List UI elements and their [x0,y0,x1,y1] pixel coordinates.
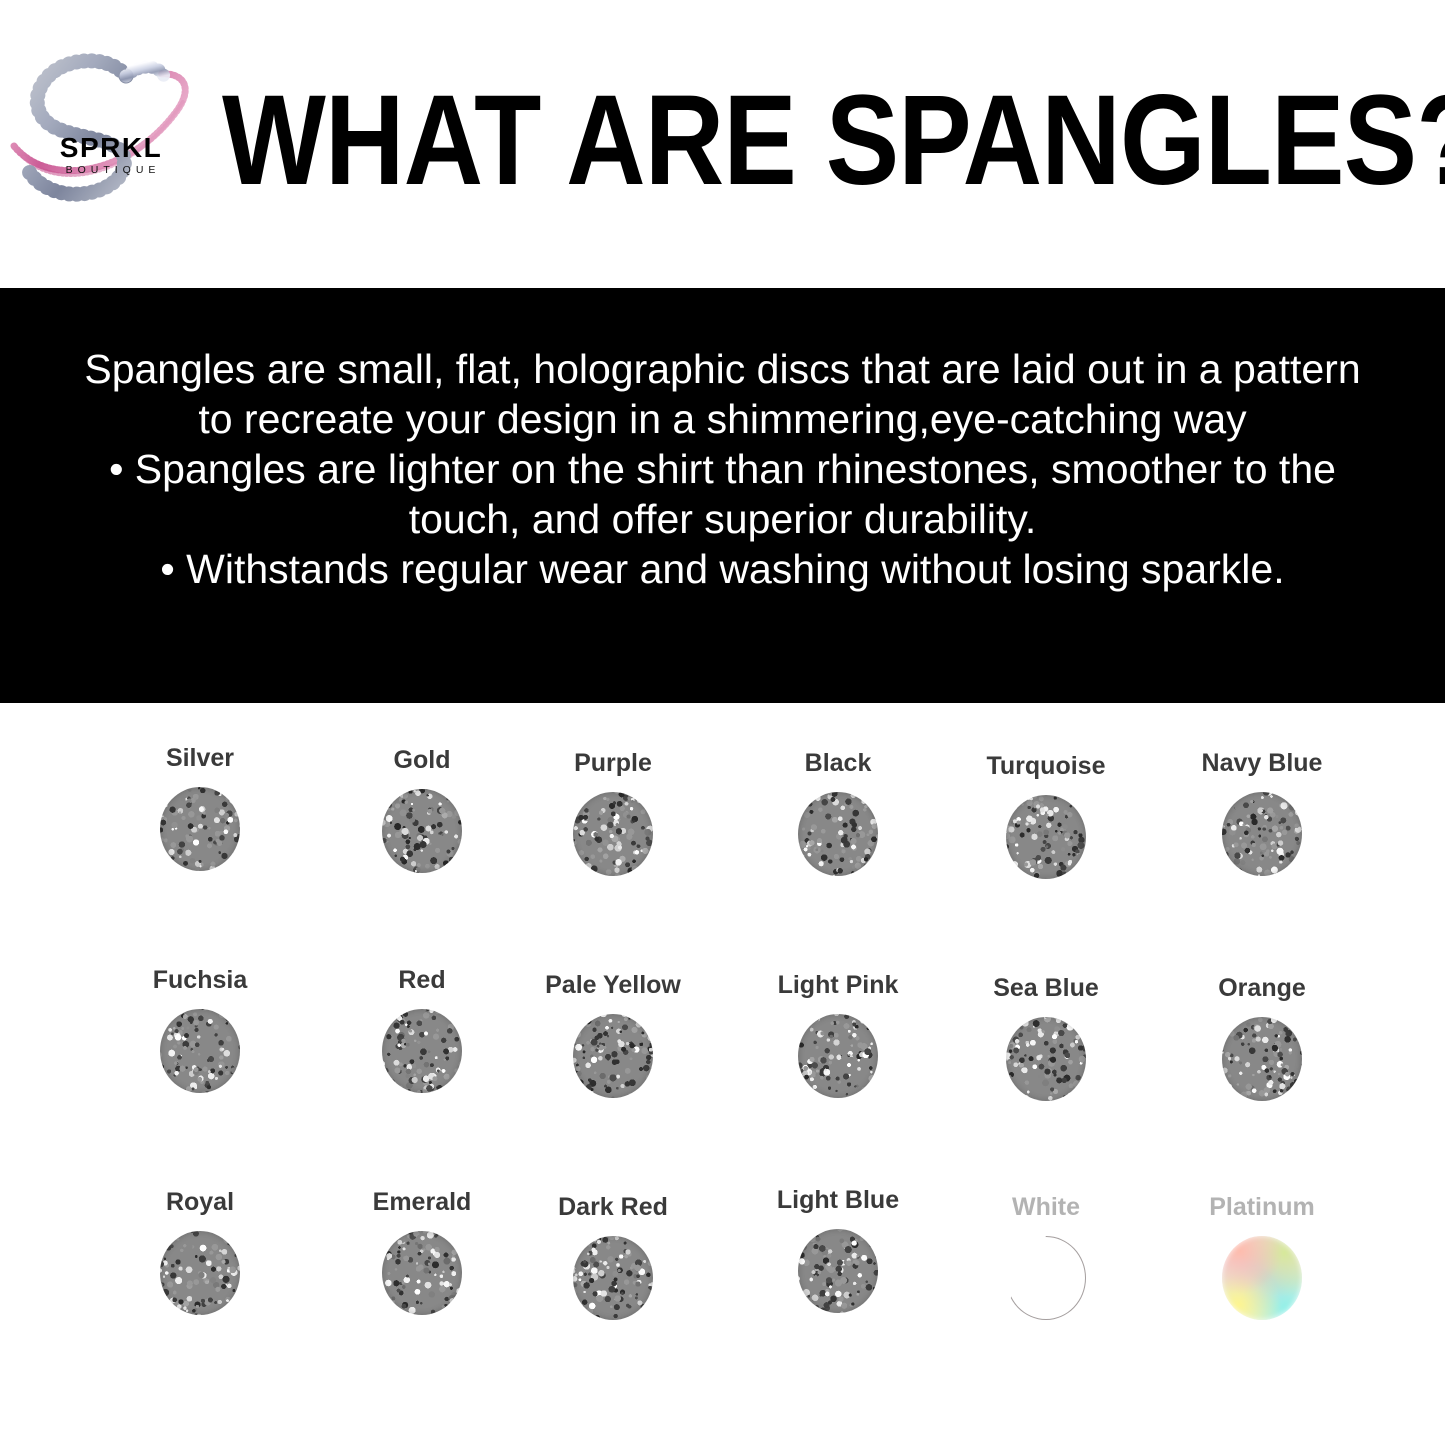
swatch-disc-sea-blue [1006,1017,1086,1101]
page-title: WHAT ARE SPANGLES? [222,66,1237,216]
swatch-label: Red [322,965,522,995]
description-line-5: • Withstands regular wear and washing wi… [40,544,1405,594]
swatch-item-silver[interactable]: Silver [100,743,300,901]
swatch-disc-purple [573,792,653,876]
swatch-item-light-pink[interactable]: Light Pink [738,965,938,1128]
swatch-item-white[interactable]: White [946,1187,1146,1350]
swatch-row: Fuchsia Red Pale Yellow Light Pink [0,965,1445,1187]
infographic-page: SPRKL BOUTIQUE WHAT ARE SPANGLES? Spangl… [0,0,1445,1445]
swatch-disc-navy-blue [1222,792,1302,876]
swatch-label: Purple [513,748,713,778]
description-band: Spangles are small, flat, holographic di… [0,288,1445,703]
swatch-item-pale-yellow[interactable]: Pale Yellow [513,965,713,1128]
swatch-disc-pale-yellow [573,1014,653,1098]
description-line-2: to recreate your design in a shimmering,… [40,394,1405,444]
swatch-label: White [946,1192,1146,1222]
swatch-disc-gold [382,789,462,873]
swatch-disc-turquoise [1006,795,1086,879]
swatch-label: Silver [100,743,300,773]
logo-wordmark: SPRKL BOUTIQUE [46,134,176,176]
swatch-label: Sea Blue [946,973,1146,1003]
description-line-1: Spangles are small, flat, holographic di… [40,344,1405,394]
swatch-disc-dark-red [573,1236,653,1320]
swatch-disc-black [798,792,878,876]
swatch-label: Platinum [1162,1192,1362,1222]
swatch-label: Emerald [322,1187,522,1217]
description-text: Spangles are small, flat, holographic di… [40,344,1405,594]
swatch-disc-light-pink [798,1014,878,1098]
swatch-label: Navy Blue [1162,748,1362,778]
swatch-row: Silver Gold Purple Black [0,743,1445,965]
swatch-item-royal[interactable]: Royal [100,1187,300,1345]
swatch-item-turquoise[interactable]: Turquoise [946,743,1146,909]
swatch-label: Fuchsia [100,965,300,995]
swatch-disc-silver [160,787,240,871]
swatch-label: Pale Yellow [513,970,713,1000]
swatch-item-dark-red[interactable]: Dark Red [513,1187,713,1350]
description-line-3: • Spangles are lighter on the shirt than… [40,444,1405,494]
swatch-item-navy-blue[interactable]: Navy Blue [1162,743,1362,906]
sprkl-boutique-logo: SPRKL BOUTIQUE [8,38,208,218]
swatch-disc-fuchsia [160,1009,240,1093]
swatch-label: Royal [100,1187,300,1217]
swatch-label: Dark Red [513,1192,713,1222]
swatch-label: Orange [1162,973,1362,1003]
color-swatch-grid: Silver Gold Purple Black [0,703,1445,1445]
swatch-item-orange[interactable]: Orange [1162,965,1362,1131]
swatch-label: Light Blue [738,1185,938,1215]
swatch-disc-emerald [382,1231,462,1315]
swatch-item-sea-blue[interactable]: Sea Blue [946,965,1146,1131]
swatch-item-red[interactable]: Red [322,965,522,1123]
header-section: SPRKL BOUTIQUE WHAT ARE SPANGLES? [0,0,1445,288]
swatch-disc-platinum [1222,1236,1302,1320]
swatch-label: Black [738,748,938,778]
swatch-label: Gold [322,745,522,775]
swatch-label: Turquoise [946,751,1146,781]
swatch-item-black[interactable]: Black [738,743,938,906]
swatch-disc-light-blue [798,1229,878,1313]
swatch-item-emerald[interactable]: Emerald [322,1187,522,1345]
swatch-item-light-blue[interactable]: Light Blue [738,1187,938,1343]
swatch-row: Royal Emerald Dark Red Light Blue [0,1187,1445,1409]
swatch-disc-royal [160,1231,240,1315]
swatch-item-platinum[interactable]: Platinum [1162,1187,1362,1350]
logo-brand-name: SPRKL [46,134,176,162]
swatch-item-gold[interactable]: Gold [322,743,522,903]
swatch-disc-orange [1222,1017,1302,1101]
swatch-item-fuchsia[interactable]: Fuchsia [100,965,300,1123]
swatch-disc-red [382,1009,462,1093]
swatch-item-purple[interactable]: Purple [513,743,713,906]
swatch-label: Light Pink [738,970,938,1000]
logo-brand-tagline: BOUTIQUE [46,165,176,176]
swatch-disc-white [1006,1236,1086,1320]
description-line-4: touch, and offer superior durability. [40,494,1405,544]
